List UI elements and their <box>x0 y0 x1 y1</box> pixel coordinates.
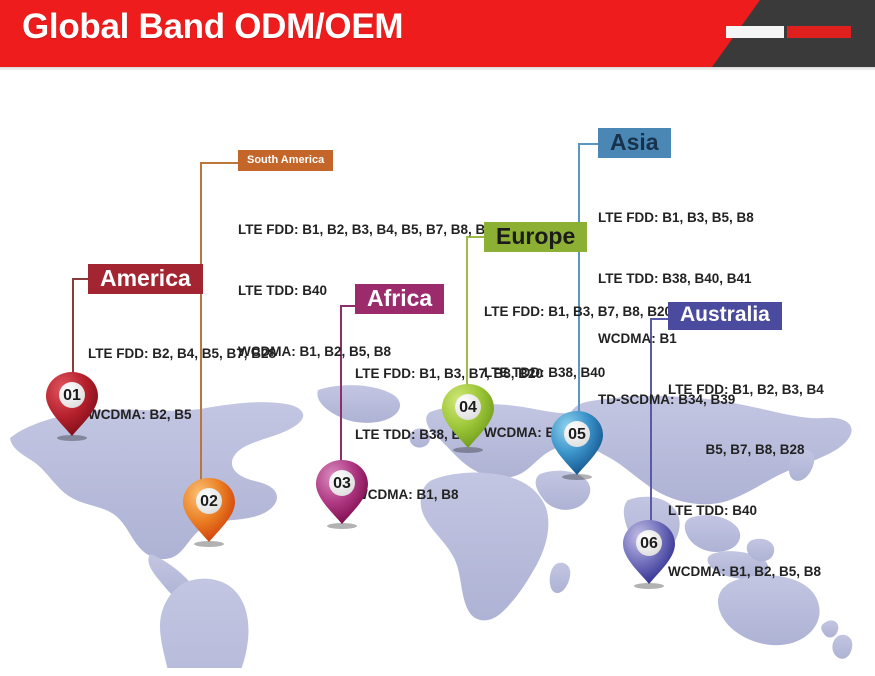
band-line: LTE FDD: B1, B2, B3, B4, B5, B7, B8, B28 <box>238 220 500 240</box>
map-pin-02[interactable]: 02 <box>181 476 237 548</box>
band-line: WCDMA: B1, B8 <box>355 485 543 505</box>
header-dropshadow <box>0 67 875 71</box>
map-pin-01[interactable]: 01 <box>44 370 100 442</box>
band-line: LTE TDD: B40 <box>668 501 824 521</box>
header-banner: Global Band ODM/OEM <box>0 0 875 67</box>
band-line: WCDMA: B2, B5 <box>88 405 276 425</box>
region-label-europe[interactable]: Europe <box>484 222 587 252</box>
pin-number: 03 <box>314 475 370 493</box>
accent-bar-white-segment <box>726 26 784 38</box>
map-pin-04[interactable]: 04 <box>440 382 496 454</box>
map-pin-06[interactable]: 06 <box>621 518 677 590</box>
pin-number: 04 <box>440 399 496 417</box>
map-pin-05[interactable]: 05 <box>549 409 605 481</box>
band-line: B5, B7, B8, B28 <box>668 440 824 460</box>
header-accent-bar <box>726 26 851 38</box>
band-line: LTE FDD: B1, B3, B5, B8 <box>598 208 754 228</box>
region-info-australia: Australia LTE FDD: B1, B2, B3, B4 B5, B7… <box>668 302 824 623</box>
accent-bar-red-segment <box>787 26 851 38</box>
pin-number: 06 <box>621 535 677 553</box>
region-label-south-america[interactable]: South America <box>238 150 333 171</box>
slide-canvas: Global Band ODM/OEM <box>0 0 875 676</box>
pin-number: 02 <box>181 493 237 511</box>
pin-number: 05 <box>549 426 605 444</box>
map-pin-03[interactable]: 03 <box>314 458 370 530</box>
region-label-asia[interactable]: Asia <box>598 128 671 158</box>
region-bands-australia: LTE FDD: B1, B2, B3, B4 B5, B7, B8, B28 … <box>668 339 824 623</box>
page-title: Global Band ODM/OEM <box>22 7 403 47</box>
region-label-australia[interactable]: Australia <box>668 302 782 330</box>
region-label-africa[interactable]: Africa <box>355 284 444 314</box>
pin-number: 01 <box>44 387 100 405</box>
band-line: WCDMA: B1, B2, B5, B8 <box>668 562 824 582</box>
region-label-america[interactable]: America <box>88 264 203 294</box>
band-line: LTE TDD: B38, B40, B41 <box>598 269 754 289</box>
band-line: LTE FDD: B1, B2, B3, B4 <box>668 380 824 400</box>
